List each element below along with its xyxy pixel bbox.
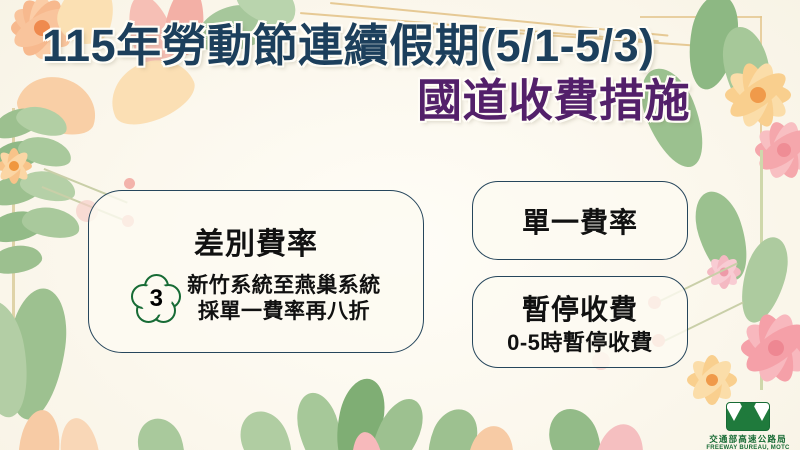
page-title-line-2: 國道收費措施: [0, 77, 780, 126]
card-differential-rate[interactable]: 差別費率 3 新竹系統至燕巢系統 採單一費率再八折: [88, 190, 424, 353]
petal-peach: [56, 416, 102, 450]
leaf-green: [0, 135, 45, 175]
leaf-green: [0, 242, 44, 278]
leaf-large-green: [0, 296, 36, 421]
leaf-green: [0, 206, 46, 246]
leaf-green: [418, 402, 485, 450]
card-differential-subline-1: 新竹系統至燕巢系統: [187, 273, 381, 299]
card-suspend-toll-subtext: 0-5時暫停收費: [507, 330, 653, 357]
card-differential-subline-2: 採單一費率再八折: [187, 299, 381, 325]
agency-logo: 交通部高速公路局 FREEWAY BUREAU, MOTC: [700, 402, 796, 450]
card-suspend-toll-title: 暫停收費: [522, 288, 638, 328]
page-title-line-1: 115年勞動節連續假期(5/1-5/3): [0, 22, 780, 71]
card-single-rate-title: 單一費率: [522, 201, 638, 241]
leaf-green: [232, 404, 302, 450]
leaf-green: [131, 413, 193, 450]
stem-right: [760, 150, 763, 390]
agency-name-cn: 交通部高速公路局: [700, 433, 796, 445]
leaf-green: [18, 166, 79, 205]
gold-frame-horizontal: [640, 16, 762, 18]
card-differential-body: 3 新竹系統至燕巢系統 採單一費率再八折: [131, 273, 381, 324]
dot-pink: [124, 178, 135, 189]
petal-pink: [593, 420, 649, 450]
freeway-bureau-mark-icon: [726, 402, 770, 431]
poster-canvas: 115年勞動節連續假期(5/1-5/3) 國道收費措施 差別費率 3 新竹系統至…: [0, 0, 800, 450]
title-block: 115年勞動節連續假期(5/1-5/3) 國道收費措施: [0, 22, 780, 125]
leaf-green: [541, 402, 611, 450]
card-single-rate[interactable]: 單一費率: [472, 181, 688, 260]
leaf-green: [360, 391, 433, 450]
card-differential-subtext: 新竹系統至燕巢系統 採單一費率再八折: [187, 273, 381, 324]
leaf-green: [329, 374, 391, 450]
leaf-green: [0, 170, 45, 210]
leaf-green: [687, 185, 757, 286]
leaf-green: [20, 203, 82, 242]
leaf-large-green: [0, 285, 73, 424]
badge-number: 3: [131, 274, 181, 324]
leaf-green: [16, 132, 75, 171]
leaf-green: [291, 388, 350, 450]
card-differential-title: 差別費率: [194, 219, 318, 263]
petal-peach: [17, 408, 63, 450]
leaf-green: [733, 232, 796, 328]
flower-badge-icon: 3: [131, 274, 181, 324]
petal-pink: [350, 431, 385, 450]
agency-name-en: FREEWAY BUREAU, MOTC: [700, 445, 796, 450]
stem-left: [12, 108, 15, 338]
card-suspend-toll[interactable]: 暫停收費 0-5時暫停收費: [472, 276, 688, 368]
petal-peach: [466, 423, 518, 450]
